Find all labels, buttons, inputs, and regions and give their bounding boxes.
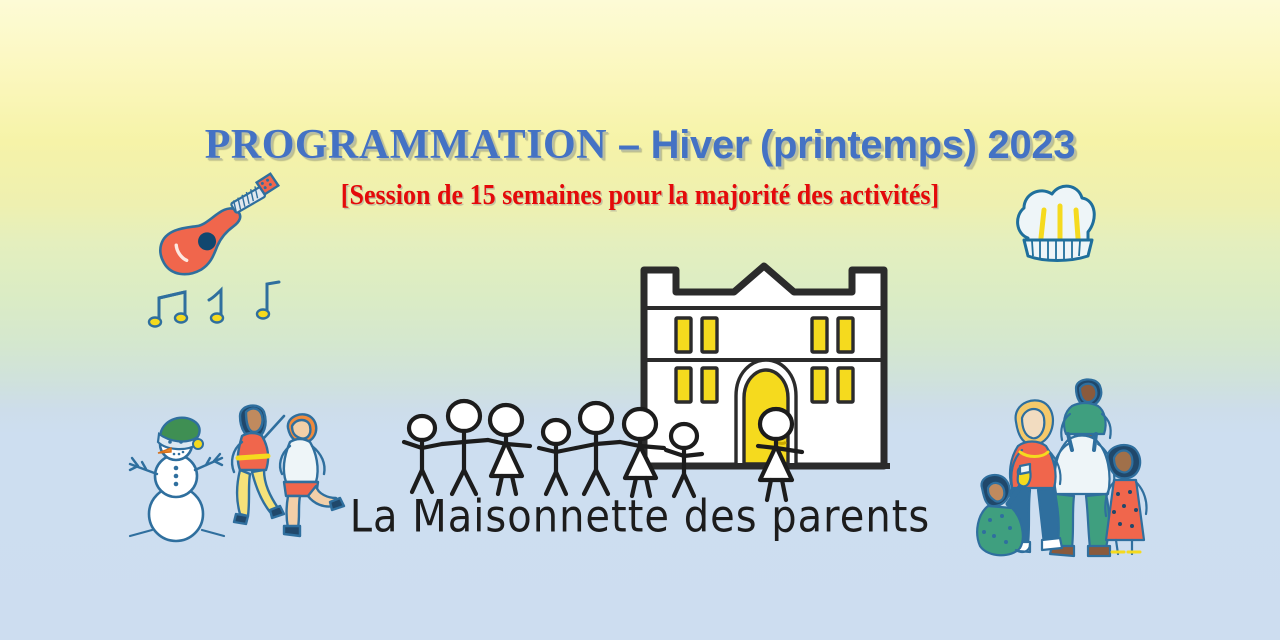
poster-subtitle: [Session de 15 semaines pour la majorité…	[45, 180, 1235, 212]
music-notes-icon	[145, 278, 305, 338]
logo-wordmark: La Maisonnette des parents	[0, 491, 1280, 543]
stick-figure-door-icon	[742, 404, 822, 504]
poster-title: PROGRAMMATION – Hiver (printemps) 2023	[0, 124, 1280, 166]
stick-figure-chain-icon	[396, 398, 776, 503]
title-season: – Hiver (printemps) 2023	[607, 123, 1075, 167]
poster-canvas: PROGRAMMATION – Hiver (printemps) 2023 […	[0, 0, 1280, 640]
title-programmation: PROGRAMMATION	[205, 122, 607, 168]
